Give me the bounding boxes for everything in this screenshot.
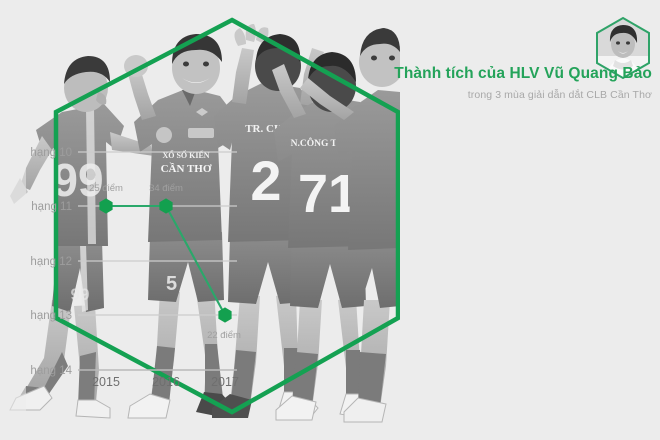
- xtick-2015: 2015: [92, 375, 120, 389]
- title-block: Thành tích của HLV Vũ Quang Bảo trong 3 …: [390, 64, 652, 102]
- chart-x-axis-labels: 2015 2016 2017: [92, 375, 239, 389]
- ytick-hang-13: hạng 13: [30, 310, 72, 322]
- data-point-2016[interactable]: [159, 198, 172, 213]
- point-label-2015: 25 điểm: [89, 183, 123, 194]
- xtick-2017: 2017: [211, 375, 239, 389]
- data-point-2017[interactable]: [218, 307, 231, 322]
- ytick-hang-14: hạng 14: [30, 365, 72, 377]
- point-label-2017: 22 điểm: [207, 330, 241, 341]
- page-title: Thành tích của HLV Vũ Quang Bảo: [390, 64, 652, 83]
- infographic-root: 99 99 5 XỔ: [0, 0, 660, 440]
- ytick-hang-12: hạng 12: [30, 256, 72, 268]
- right-panel: Thành tích của HLV Vũ Quang Bảo trong 3 …: [400, 0, 660, 440]
- ytick-hang-11: hạng 11: [31, 201, 72, 213]
- svg-text:71: 71: [298, 164, 358, 224]
- ranking-line-chart: hạng 10 hạng 11 hạng 12 hạng 13 hạng 14 …: [0, 0, 260, 440]
- xtick-2016: 2016: [152, 375, 180, 389]
- ytick-hang-10: hạng 10: [30, 147, 72, 159]
- chart-y-axis-labels: hạng 10 hạng 11 hạng 12 hạng 13 hạng 14: [30, 147, 72, 377]
- page-subtitle: trong 3 mùa giải dẫn dắt CLB Cần Thơ: [390, 89, 652, 102]
- data-point-2015[interactable]: [99, 198, 112, 213]
- point-label-2016: 34 điểm: [149, 183, 183, 194]
